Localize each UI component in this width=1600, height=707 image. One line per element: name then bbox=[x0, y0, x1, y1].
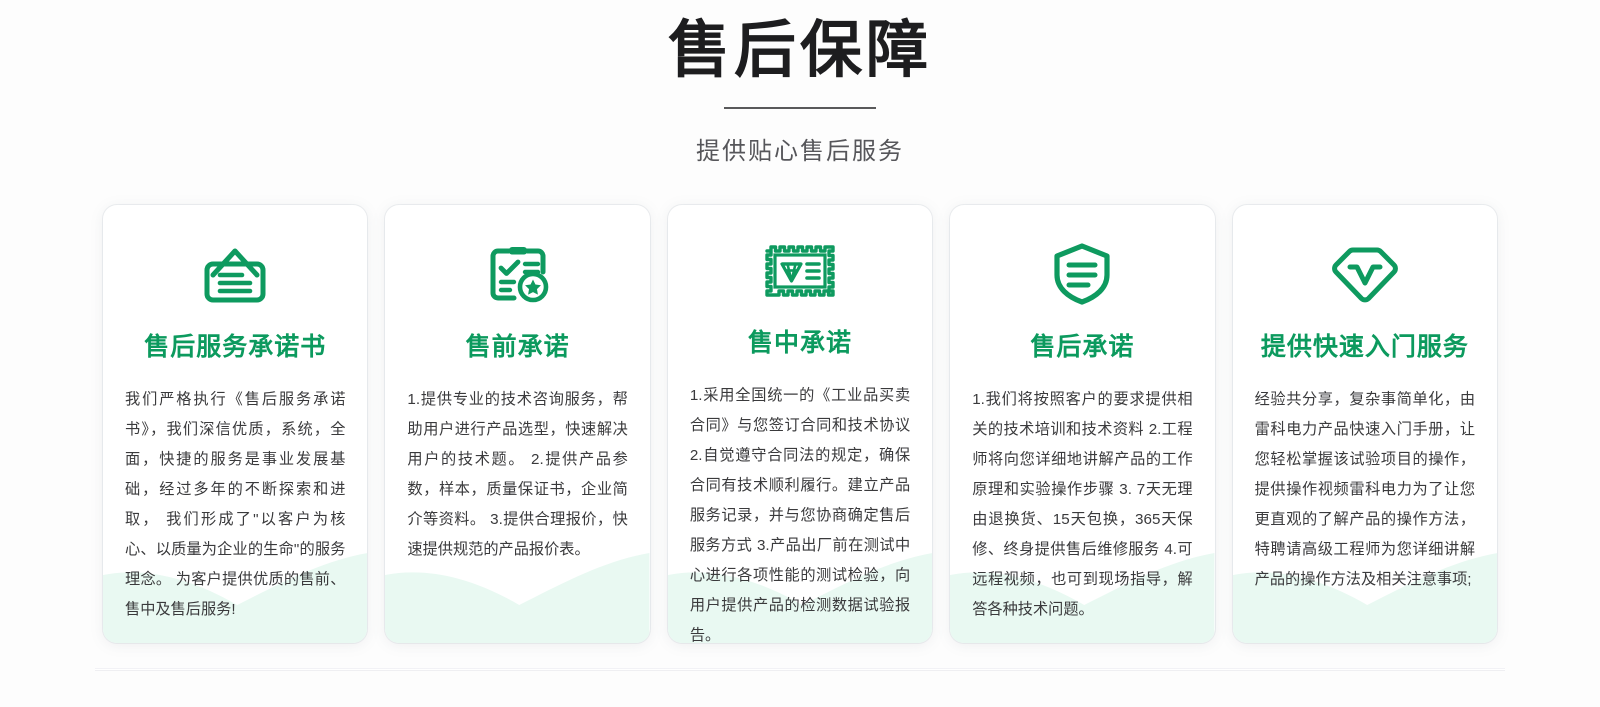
card-body: 经验共分享，复杂事简单化，由雷科电力产品快速入门手册，让您轻松掌握该试验项目的操… bbox=[1255, 385, 1475, 595]
card-body-text: 我们严格执行《售后服务承诺书》，我们深信优质，系统，全面，快捷的服务是事业发展基… bbox=[125, 385, 345, 625]
card-body: 1.我们将按照客户的要求提供相关的技术培训和技术资料 2.工程师将向您详细地讲解… bbox=[972, 385, 1192, 625]
card-title: 售中承诺 bbox=[748, 323, 852, 359]
card-body: 1.采用全国统一的《工业品买卖合同》与您签订合同和技术协议 2.自觉遵守合同法的… bbox=[690, 381, 910, 643]
page-title: 售后保障 bbox=[0, 16, 1600, 85]
hanging-sign-icon bbox=[198, 235, 272, 311]
card-title: 提供快速入门服务 bbox=[1261, 327, 1469, 363]
page-bottom-divider bbox=[95, 668, 1505, 671]
service-card[interactable]: 售前承诺 1.提供专业的技术咨询服务，帮助用户进行产品选型，快速解决用户的技术题… bbox=[385, 205, 649, 643]
card-body-text: 经验共分享，复杂事简单化，由雷科电力产品快速入门手册，让您轻松掌握该试验项目的操… bbox=[1255, 385, 1475, 595]
card-title: 售前承诺 bbox=[466, 327, 570, 363]
page-header: 售后保障 提供贴心售后服务 bbox=[0, 0, 1600, 166]
card-title: 售后承诺 bbox=[1030, 327, 1134, 363]
service-card-list: 售后服务承诺书 我们严格执行《售后服务承诺书》，我们深信优质，系统，全面，快捷的… bbox=[103, 205, 1497, 643]
clipboard-star-icon bbox=[481, 235, 555, 311]
card-body-text: 1.我们将按照客户的要求提供相关的技术培训和技术资料 2.工程师将向您详细地讲解… bbox=[972, 385, 1192, 625]
stamp-diamond-icon bbox=[761, 235, 839, 307]
gem-check-icon bbox=[1326, 235, 1404, 311]
shield-lines-icon bbox=[1046, 235, 1118, 311]
page-subtitle: 提供贴心售后服务 bbox=[0, 131, 1600, 166]
card-body: 我们严格执行《售后服务承诺书》，我们深信优质，系统，全面，快捷的服务是事业发展基… bbox=[125, 385, 345, 625]
service-card[interactable]: 售后服务承诺书 我们严格执行《售后服务承诺书》，我们深信优质，系统，全面，快捷的… bbox=[103, 205, 367, 643]
title-divider bbox=[724, 107, 876, 109]
card-body-text: 1.采用全国统一的《工业品买卖合同》与您签订合同和技术协议 2.自觉遵守合同法的… bbox=[690, 381, 910, 643]
service-card[interactable]: 提供快速入门服务 经验共分享，复杂事简单化，由雷科电力产品快速入门手册，让您轻松… bbox=[1233, 205, 1497, 643]
service-card[interactable]: 售中承诺 1.采用全国统一的《工业品买卖合同》与您签订合同和技术协议 2.自觉遵… bbox=[668, 205, 932, 643]
after-sales-guarantee-page: 售后保障 提供贴心售后服务 售后服务承诺书 bbox=[0, 0, 1600, 707]
card-title: 售后服务承诺书 bbox=[144, 327, 326, 363]
service-card[interactable]: 售后承诺 1.我们将按照客户的要求提供相关的技术培训和技术资料 2.工程师将向您… bbox=[950, 205, 1214, 643]
card-body-text: 1.提供专业的技术咨询服务，帮助用户进行产品选型，快速解决用户的技术题。 2.提… bbox=[407, 385, 627, 565]
card-body: 1.提供专业的技术咨询服务，帮助用户进行产品选型，快速解决用户的技术题。 2.提… bbox=[407, 385, 627, 565]
